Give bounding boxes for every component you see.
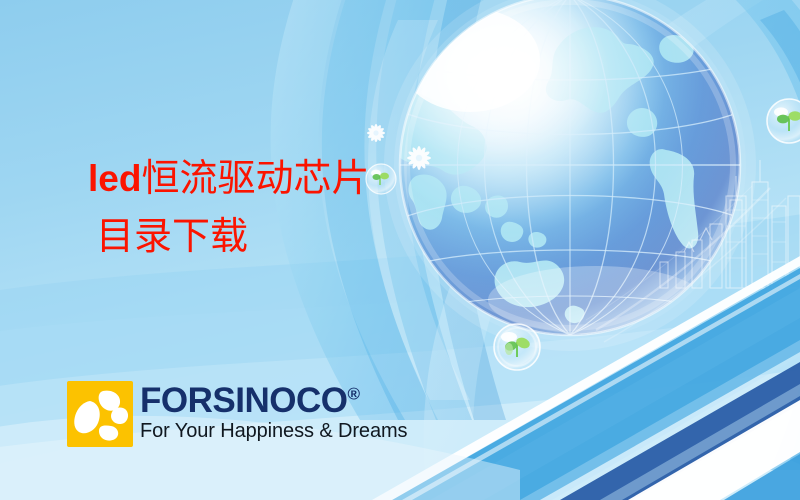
brand-tagline: For Your Happiness & Dreams <box>140 420 407 442</box>
bubble-with-sprout-icon <box>494 324 540 370</box>
company-logo: FORSINOCO® For Your Happiness & Dreams <box>67 381 407 447</box>
four-petal-flower-icon <box>67 381 133 447</box>
registered-trademark-icon: ® <box>347 384 359 403</box>
slide-canvas: led恒流驱动芯片 目录下载 FORSINOCO® For <box>0 0 800 500</box>
brand-name: FORSINOCO® <box>140 383 407 419</box>
logo-wordmark: FORSINOCO® For Your Happiness & Dreams <box>140 381 407 442</box>
brand-text: FORSINOCO <box>140 381 347 420</box>
bubble-with-sprout-icon <box>366 164 396 194</box>
